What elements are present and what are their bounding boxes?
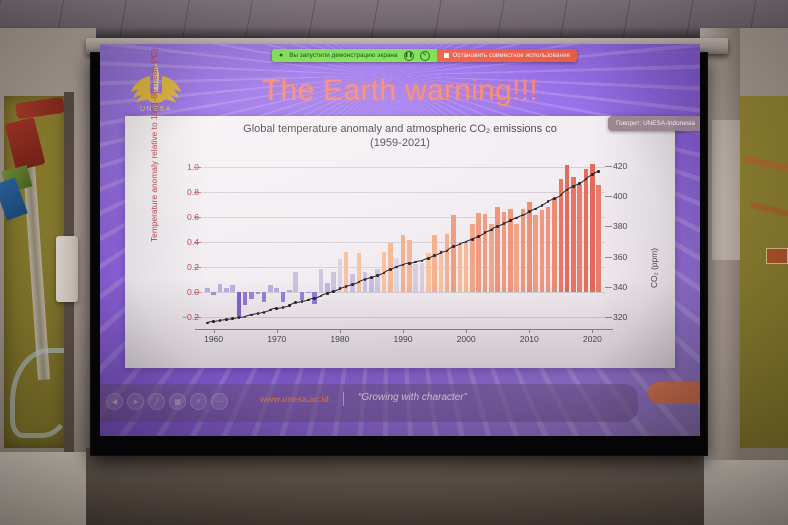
co2-data-point bbox=[541, 204, 544, 207]
x-axis-tick bbox=[277, 329, 278, 333]
stop-square-icon bbox=[444, 53, 449, 58]
x-axis-tick-label: 1970 bbox=[267, 334, 286, 344]
right-axis-tick bbox=[605, 317, 612, 318]
temperature-anomaly-bar bbox=[268, 285, 273, 291]
co2-data-point bbox=[269, 309, 272, 312]
co2-data-point bbox=[326, 292, 329, 295]
x-axis-line bbox=[195, 329, 613, 330]
temperature-anomaly-bar bbox=[464, 243, 469, 292]
temperature-anomaly-bar bbox=[325, 283, 330, 292]
temperature-anomaly-bar bbox=[552, 198, 557, 292]
more-options-button[interactable]: ⋯ bbox=[211, 393, 228, 410]
x-axis-tick-label: 1960 bbox=[204, 334, 223, 344]
temperature-anomaly-bar bbox=[300, 292, 305, 301]
co2-data-point bbox=[250, 314, 253, 317]
left-axis-tick-label: −0.2 bbox=[182, 312, 199, 322]
co2-data-point bbox=[332, 290, 335, 293]
temperature-anomaly-bar bbox=[394, 258, 399, 292]
co2-data-point bbox=[534, 208, 537, 211]
temperature-anomaly-bar bbox=[533, 215, 538, 291]
co2-data-point bbox=[370, 276, 373, 279]
right-wall-mural bbox=[736, 96, 788, 448]
slide-footer: ◀➤╱▦⌕⋯ www.unesa.ac.id “Growing with cha… bbox=[100, 384, 700, 436]
left-axis-title: Temperature anomaly relative to 1951-80 … bbox=[149, 92, 159, 242]
temperature-anomaly-bar bbox=[514, 224, 519, 292]
temperature-anomaly-bar bbox=[262, 292, 267, 302]
footer-divider bbox=[343, 392, 344, 406]
co2-data-point bbox=[238, 316, 241, 319]
right-axis-tick bbox=[605, 287, 612, 288]
right-axis-tick-label: 380 bbox=[613, 221, 627, 231]
co2-data-point bbox=[440, 251, 443, 254]
co2-data-point bbox=[477, 235, 480, 238]
temperature-anomaly-bar bbox=[451, 215, 456, 291]
x-axis-tick-label: 1990 bbox=[393, 334, 412, 344]
co2-data-point bbox=[206, 322, 209, 325]
co2-data-point bbox=[351, 283, 354, 286]
co2-data-point bbox=[376, 274, 379, 277]
chart-title-main: Global temperature anomaly and atmospher… bbox=[243, 123, 557, 135]
right-wall-base bbox=[700, 460, 788, 525]
footer-url[interactable]: www.unesa.ac.id bbox=[260, 394, 329, 404]
x-axis-tick bbox=[466, 329, 467, 333]
co2-data-point bbox=[515, 217, 518, 220]
co2-data-point bbox=[597, 170, 600, 173]
temperature-anomaly-bar bbox=[540, 210, 545, 291]
temperature-anomaly-bar bbox=[211, 292, 216, 296]
temperature-anomaly-bar bbox=[224, 288, 229, 292]
co2-data-point bbox=[231, 317, 234, 320]
temperature-anomaly-bar bbox=[357, 253, 362, 292]
temperature-anomaly-bar bbox=[319, 269, 324, 292]
temperature-anomaly-bar bbox=[495, 207, 500, 292]
temperature-anomaly-bar bbox=[281, 292, 286, 302]
annotate-icon[interactable]: ✎ bbox=[420, 51, 430, 61]
temperature-anomaly-bar bbox=[590, 164, 595, 292]
pen-button[interactable]: ╱ bbox=[148, 393, 165, 410]
co2-data-point bbox=[225, 318, 228, 321]
temperature-anomaly-bar bbox=[363, 272, 368, 292]
co2-data-point bbox=[313, 297, 316, 300]
temperature-anomaly-bar bbox=[205, 288, 210, 292]
pause-icon[interactable]: ❚❚ bbox=[404, 51, 414, 61]
x-axis-tick bbox=[592, 329, 593, 333]
x-axis-tick-label: 1980 bbox=[330, 334, 349, 344]
co2-data-point bbox=[389, 268, 392, 271]
co2-data-point bbox=[591, 173, 594, 176]
co2-data-point bbox=[275, 307, 278, 310]
left-wall-base bbox=[0, 452, 96, 525]
screen-share-toolbar[interactable]: ● Вы запустили демонстрацию экрана ❚❚ ✎ … bbox=[272, 49, 577, 62]
temperature-anomaly-bar bbox=[331, 272, 336, 292]
co2-data-point bbox=[257, 312, 260, 315]
gridline bbox=[201, 317, 605, 318]
mural-right-plaque bbox=[766, 248, 788, 264]
left-axis-tick-label: 0.6 bbox=[187, 212, 199, 222]
x-axis-tick bbox=[340, 329, 341, 333]
right-axis-tick-label: 400 bbox=[613, 191, 627, 201]
co2-data-point bbox=[572, 185, 575, 188]
wall-ledge bbox=[56, 236, 78, 302]
temperature-anomaly-bar bbox=[596, 185, 601, 291]
footer-orange-accent bbox=[648, 382, 700, 404]
record-glyph: ● bbox=[279, 52, 283, 59]
x-axis-tick bbox=[403, 329, 404, 333]
right-axis-tick bbox=[605, 166, 612, 167]
co2-data-point bbox=[320, 295, 323, 298]
right-axis-tick-label: 340 bbox=[613, 282, 627, 292]
co2-data-point bbox=[528, 210, 531, 213]
temperature-anomaly-bar bbox=[476, 213, 481, 292]
co2-data-point bbox=[339, 287, 342, 290]
co2-data-point bbox=[212, 320, 215, 323]
gridline bbox=[201, 167, 605, 168]
temperature-anomaly-bar bbox=[274, 288, 279, 292]
x-axis-tick-label: 2020 bbox=[583, 334, 602, 344]
slide-grid-button[interactable]: ▦ bbox=[169, 393, 186, 410]
co2-data-point bbox=[496, 225, 499, 228]
temperature-anomaly-bar bbox=[546, 207, 551, 292]
temperature-anomaly-bar bbox=[237, 292, 242, 317]
co2-data-point bbox=[433, 254, 436, 257]
right-axis-tick-label: 420 bbox=[613, 161, 627, 171]
temperature-anomaly-bar bbox=[230, 285, 235, 291]
room-photo: ● Вы запустили демонстрацию экрана ❚❚ ✎ … bbox=[0, 0, 788, 525]
previous-slide-button[interactable]: ◀ bbox=[106, 393, 123, 410]
temperature-anomaly-bar bbox=[571, 177, 576, 292]
co2-data-point bbox=[288, 304, 291, 307]
co2-data-point bbox=[219, 319, 222, 322]
temperature-anomaly-bar bbox=[256, 292, 261, 295]
temperature-anomaly-bar bbox=[375, 269, 380, 292]
gridline bbox=[201, 217, 605, 218]
co2-data-point bbox=[578, 182, 581, 185]
zoom-button[interactable]: ⌕ bbox=[190, 393, 207, 410]
co2-data-point bbox=[414, 261, 417, 264]
temperature-anomaly-bar bbox=[413, 264, 418, 292]
temperature-anomaly-bar bbox=[293, 272, 298, 292]
gridline bbox=[201, 192, 605, 193]
chart-subtitle: (1959-2021) bbox=[143, 136, 657, 150]
co2-data-point bbox=[553, 197, 556, 200]
temperature-anomaly-bar bbox=[445, 234, 450, 292]
left-axis-tick-label: 0.4 bbox=[187, 237, 199, 247]
co2-data-point bbox=[294, 301, 297, 304]
share-status-label: Вы запустили демонстрацию экрана bbox=[289, 52, 397, 59]
temperature-anomaly-bar bbox=[489, 224, 494, 292]
temperature-anomaly-bar bbox=[458, 244, 463, 292]
chart-plot-area: −0.20.00.20.40.60.81.0320340360380400420… bbox=[201, 154, 605, 329]
x-axis-tick bbox=[214, 329, 215, 333]
stop-sharing-button[interactable]: Остановить совместное использование bbox=[437, 49, 578, 62]
left-axis-tick-label: 0.0 bbox=[187, 287, 199, 297]
floor-band bbox=[86, 448, 704, 525]
right-axis-tick bbox=[605, 257, 612, 258]
temperature-anomaly-bar bbox=[218, 284, 223, 292]
share-status-group: ● Вы запустили демонстрацию экрана ❚❚ ✎ bbox=[272, 49, 437, 62]
co2-data-point bbox=[427, 257, 430, 260]
right-axis-title: CO₂ (ppm) bbox=[649, 248, 659, 288]
right-axis-tick-label: 320 bbox=[613, 312, 627, 322]
temperature-anomaly-bar bbox=[565, 165, 570, 291]
temperature-anomaly-bar bbox=[407, 240, 412, 291]
right-axis-tick bbox=[605, 226, 612, 227]
co2-data-point bbox=[471, 238, 474, 241]
x-axis-tick bbox=[529, 329, 530, 333]
temperature-anomaly-bar bbox=[521, 209, 526, 292]
temperature-anomaly-bar bbox=[432, 235, 437, 291]
right-axis-tick-label: 360 bbox=[613, 252, 627, 262]
temperature-anomaly-bar bbox=[584, 169, 589, 292]
temperature-anomaly-bar bbox=[527, 202, 532, 292]
stop-sharing-label: Остановить совместное использование bbox=[453, 52, 571, 59]
temperature-anomaly-bar bbox=[306, 292, 311, 293]
slide-canvas: ● Вы запустили демонстрацию экрана ❚❚ ✎ … bbox=[100, 44, 700, 436]
slide-title: The Earth warning!!! bbox=[100, 74, 700, 108]
left-axis-tick-label: 0.8 bbox=[187, 187, 199, 197]
footer-motto: “Growing with character” bbox=[358, 392, 467, 403]
active-speaker-badge: Говорит: UNESA-Indonesia bbox=[608, 116, 700, 131]
temperature-anomaly-bar bbox=[470, 224, 475, 292]
chart-title: Global temperature anomaly and atmospher… bbox=[143, 122, 657, 150]
x-axis-tick-label: 2000 bbox=[457, 334, 476, 344]
x-axis-tick-label: 2010 bbox=[520, 334, 539, 344]
co2-data-point bbox=[509, 219, 512, 222]
temperature-anomaly-bar bbox=[249, 292, 254, 300]
left-axis-title-text: Temperature anomaly relative to 1951-80 … bbox=[149, 49, 159, 242]
co2-data-point bbox=[452, 245, 455, 248]
temperature-anomaly-bar bbox=[420, 263, 425, 292]
chart-card: Global temperature anomaly and atmospher… bbox=[125, 116, 675, 368]
right-pillar-segment bbox=[712, 120, 740, 260]
co2-data-point bbox=[408, 262, 411, 265]
temperature-anomaly-bar bbox=[483, 214, 488, 292]
right-axis-tick bbox=[605, 196, 612, 197]
pointer-button[interactable]: ➤ bbox=[127, 393, 144, 410]
temperature-anomaly-bar bbox=[577, 185, 582, 291]
temperature-anomaly-bar bbox=[243, 292, 248, 306]
temperature-anomaly-bar bbox=[439, 250, 444, 291]
temperature-anomaly-bar bbox=[287, 290, 292, 291]
left-axis-tick-label: 1.0 bbox=[187, 162, 199, 172]
left-axis-tick-label: 0.2 bbox=[187, 262, 199, 272]
co2-data-point bbox=[301, 300, 304, 303]
presenter-toolbar[interactable]: ◀➤╱▦⌕⋯ bbox=[106, 393, 228, 410]
